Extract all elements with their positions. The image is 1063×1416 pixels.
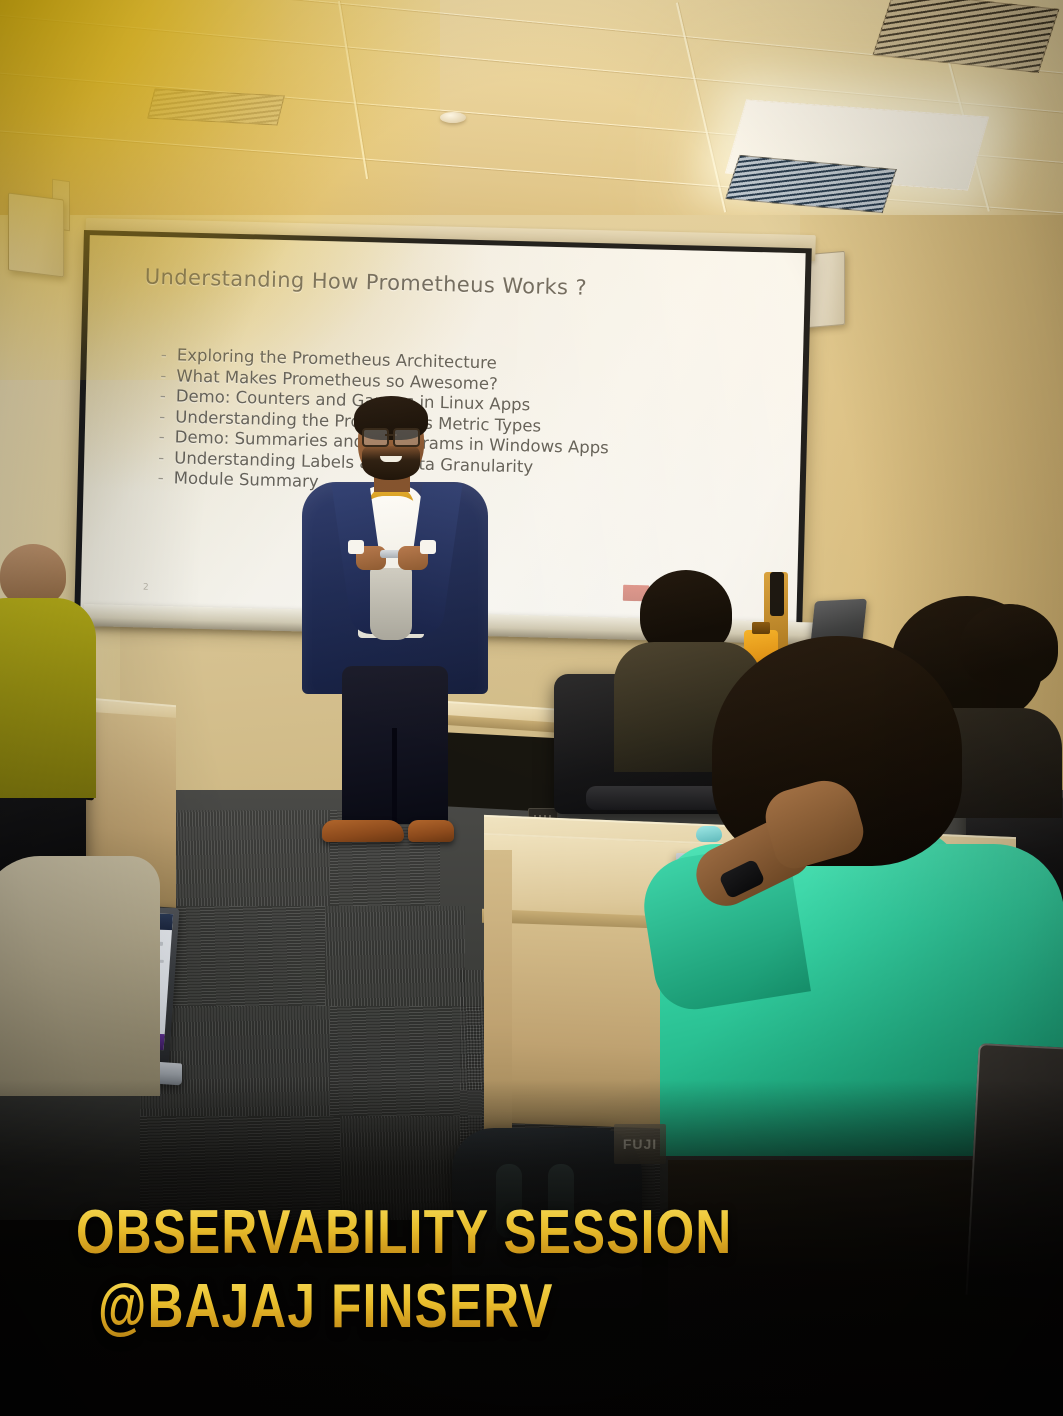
slide-number: 2 — [143, 583, 149, 593]
glasses-icon — [362, 428, 420, 443]
slide-title: Understanding How Prometheus Works ? — [145, 265, 588, 300]
attendee-bottom-left — [0, 856, 170, 1096]
smoke-detector-icon — [440, 112, 466, 123]
wall-speaker-left — [8, 193, 64, 278]
presenter-hanging-cloth — [370, 568, 412, 640]
shirt-cuff — [420, 540, 436, 554]
air-vent-icon — [873, 0, 1060, 73]
presenter-smile — [380, 456, 402, 462]
presenter-leg-gap — [392, 728, 397, 826]
backpack-strap — [496, 1164, 522, 1238]
attendee-left-olive — [0, 598, 106, 828]
desk-side-panel — [484, 850, 512, 1140]
fuji-label: FUJI — [614, 1124, 666, 1164]
attendee-head — [0, 544, 66, 606]
air-vent-icon — [147, 89, 285, 126]
ceiling — [0, 0, 1063, 215]
attendee-torso — [0, 598, 96, 798]
foreground-laptop-right — [965, 1043, 1063, 1301]
presenter-shoe-left — [322, 820, 404, 842]
backpack-strap — [548, 1164, 574, 1238]
dark-folder — [770, 572, 784, 616]
presenter-hands — [356, 546, 428, 572]
carpet-tile — [140, 1116, 340, 1220]
presenter — [296, 398, 496, 868]
presenter-shoe-right — [408, 820, 454, 842]
carpet-tile — [325, 906, 465, 1006]
attendee-torso — [0, 856, 160, 1096]
shirt-cuff — [348, 540, 364, 554]
ceiling-grid-rail — [338, 1, 368, 179]
presenter-hand-right — [398, 546, 428, 570]
photo-stage: Understanding How Prometheus Works ? Exp… — [0, 0, 1063, 1416]
presenter-beard — [362, 446, 420, 480]
